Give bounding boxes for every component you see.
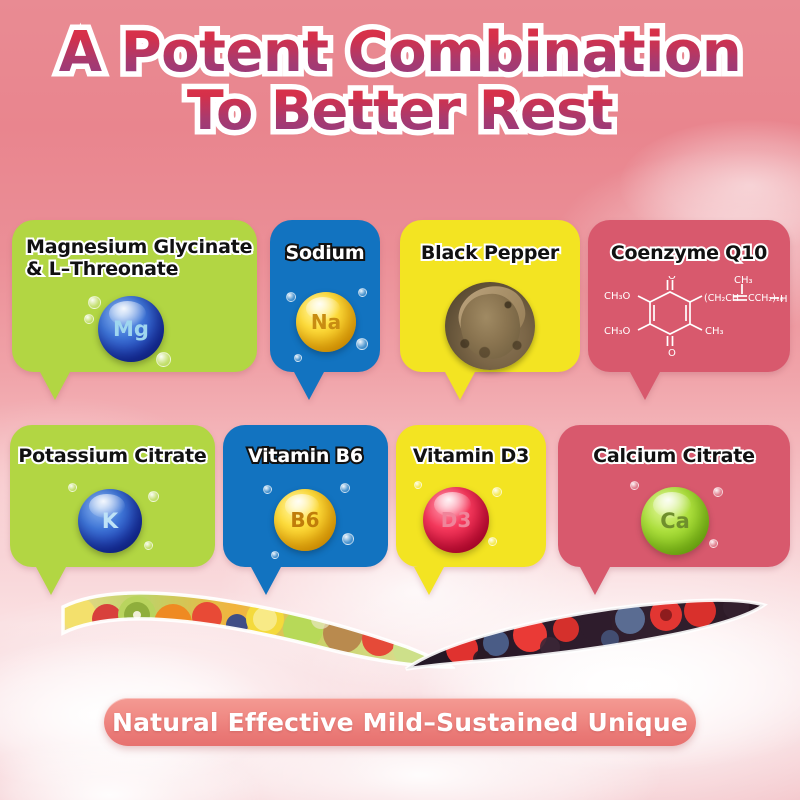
ingredient-card-black-pepper[interactable]: Black Pepper — [400, 220, 580, 372]
bubble-icon — [488, 537, 497, 546]
title-line-1: A Potent Combination A Potent Combinatio… — [0, 24, 800, 81]
ingredient-card-potassium-citrate[interactable]: Potassium Citrate K — [10, 425, 215, 567]
oxygen-bottom-label: O — [668, 348, 676, 359]
card-label: Sodium — [270, 242, 380, 264]
terminal-hydrogen-label: H — [780, 294, 788, 305]
poster-canvas: A Potent Combination A Potent Combinatio… — [0, 0, 800, 800]
bubble-icon — [88, 296, 101, 309]
card-label: Vitamin D3 — [396, 445, 546, 467]
methoxy-bottom-label: CH₃O — [604, 326, 631, 337]
card-tail — [630, 372, 660, 400]
mineral-sphere-d3: D3 — [423, 487, 489, 553]
mineral-sphere-k: K — [78, 489, 142, 553]
bubble-icon — [630, 481, 639, 490]
black-pepper-photo — [445, 282, 535, 370]
bubble-icon — [84, 314, 94, 324]
bubble-icon — [358, 288, 367, 297]
bubble-icon — [263, 485, 272, 494]
mineral-symbol: Na — [311, 310, 341, 334]
bubble-icon — [709, 539, 718, 548]
ingredient-card-vitamin-b6[interactable]: Vitamin B6 B6 — [223, 425, 388, 567]
bubble-icon — [294, 354, 302, 362]
side-chain-label: (CH₂CH — [704, 293, 739, 304]
title-line-1-text: A Potent Combination — [59, 20, 741, 85]
page-title: A Potent Combination A Potent Combinatio… — [0, 24, 800, 138]
bubble-icon — [342, 533, 354, 545]
title-line-2-text: To Better Rest — [187, 79, 613, 142]
card-label: Vitamin B6 — [223, 445, 388, 467]
ingredient-card-magnesium[interactable]: Magnesium Glycinate & L–Threonate Mg — [12, 220, 257, 372]
ingredient-card-coenzyme-q10[interactable]: Coenzyme Q10 — [588, 220, 790, 372]
card-label: Potassium Citrate — [10, 445, 215, 467]
bubble-icon — [356, 338, 368, 350]
card-tail — [294, 372, 324, 400]
mineral-symbol: Mg — [113, 317, 149, 341]
bubble-icon — [492, 487, 502, 497]
tagline-text: Natural Effective Mild–Sustained Unique — [112, 708, 688, 737]
mineral-symbol: B6 — [290, 508, 319, 532]
ingredient-card-vitamin-d3[interactable]: Vitamin D3 D3 — [396, 425, 546, 567]
mineral-symbol: Ca — [660, 509, 690, 533]
coq10-chemical-structure: O O CH₃O CH₃O CH₃ CH₃ (CH₂CH CCH₂)₁₀ H — [592, 276, 790, 372]
bubble-icon — [414, 481, 422, 489]
mineral-symbol: K — [102, 509, 118, 533]
side-chain-label-2: CCH₂)₁₀ — [748, 293, 784, 304]
bubble-icon — [286, 292, 296, 302]
card-label: Coenzyme Q10 — [588, 242, 790, 264]
mineral-sphere-b6: B6 — [274, 489, 336, 551]
tagline-banner: Natural Effective Mild–Sustained Unique — [104, 698, 696, 746]
cloud-wisp-icon — [0, 740, 260, 800]
mineral-sphere-na: Na — [296, 292, 356, 352]
card-tail — [40, 372, 70, 400]
bubble-icon — [271, 551, 279, 559]
mineral-sphere-mg: Mg — [98, 296, 164, 362]
bubble-icon — [713, 487, 723, 497]
fruit-wing-right — [400, 585, 770, 675]
bubble-icon — [156, 352, 171, 367]
methoxy-top-label: CH₃O — [604, 291, 631, 302]
mineral-symbol: D3 — [441, 508, 472, 532]
card-label: Magnesium Glycinate & L–Threonate — [12, 236, 257, 280]
mineral-sphere-ca: Ca — [641, 487, 709, 555]
title-line-2: To Better Rest To Better Rest — [0, 83, 800, 138]
fruit-wing-left — [55, 585, 455, 675]
card-label: Black Pepper — [400, 242, 580, 264]
oxygen-top-label: O — [668, 276, 676, 282]
ingredient-card-calcium-citrate[interactable]: Calcium Citrate Ca — [558, 425, 790, 567]
card-tail — [445, 372, 475, 400]
ingredient-card-sodium[interactable]: Sodium Na — [270, 220, 380, 372]
pepper-grit-texture — [445, 282, 535, 370]
bubble-icon — [144, 541, 153, 550]
methyl-label: CH₃ — [705, 326, 724, 337]
card-label: Calcium Citrate — [558, 445, 790, 467]
branch-methyl-label: CH₃ — [734, 276, 753, 286]
bubble-icon — [148, 491, 159, 502]
bubble-icon — [68, 483, 77, 492]
bubble-icon — [340, 483, 350, 493]
